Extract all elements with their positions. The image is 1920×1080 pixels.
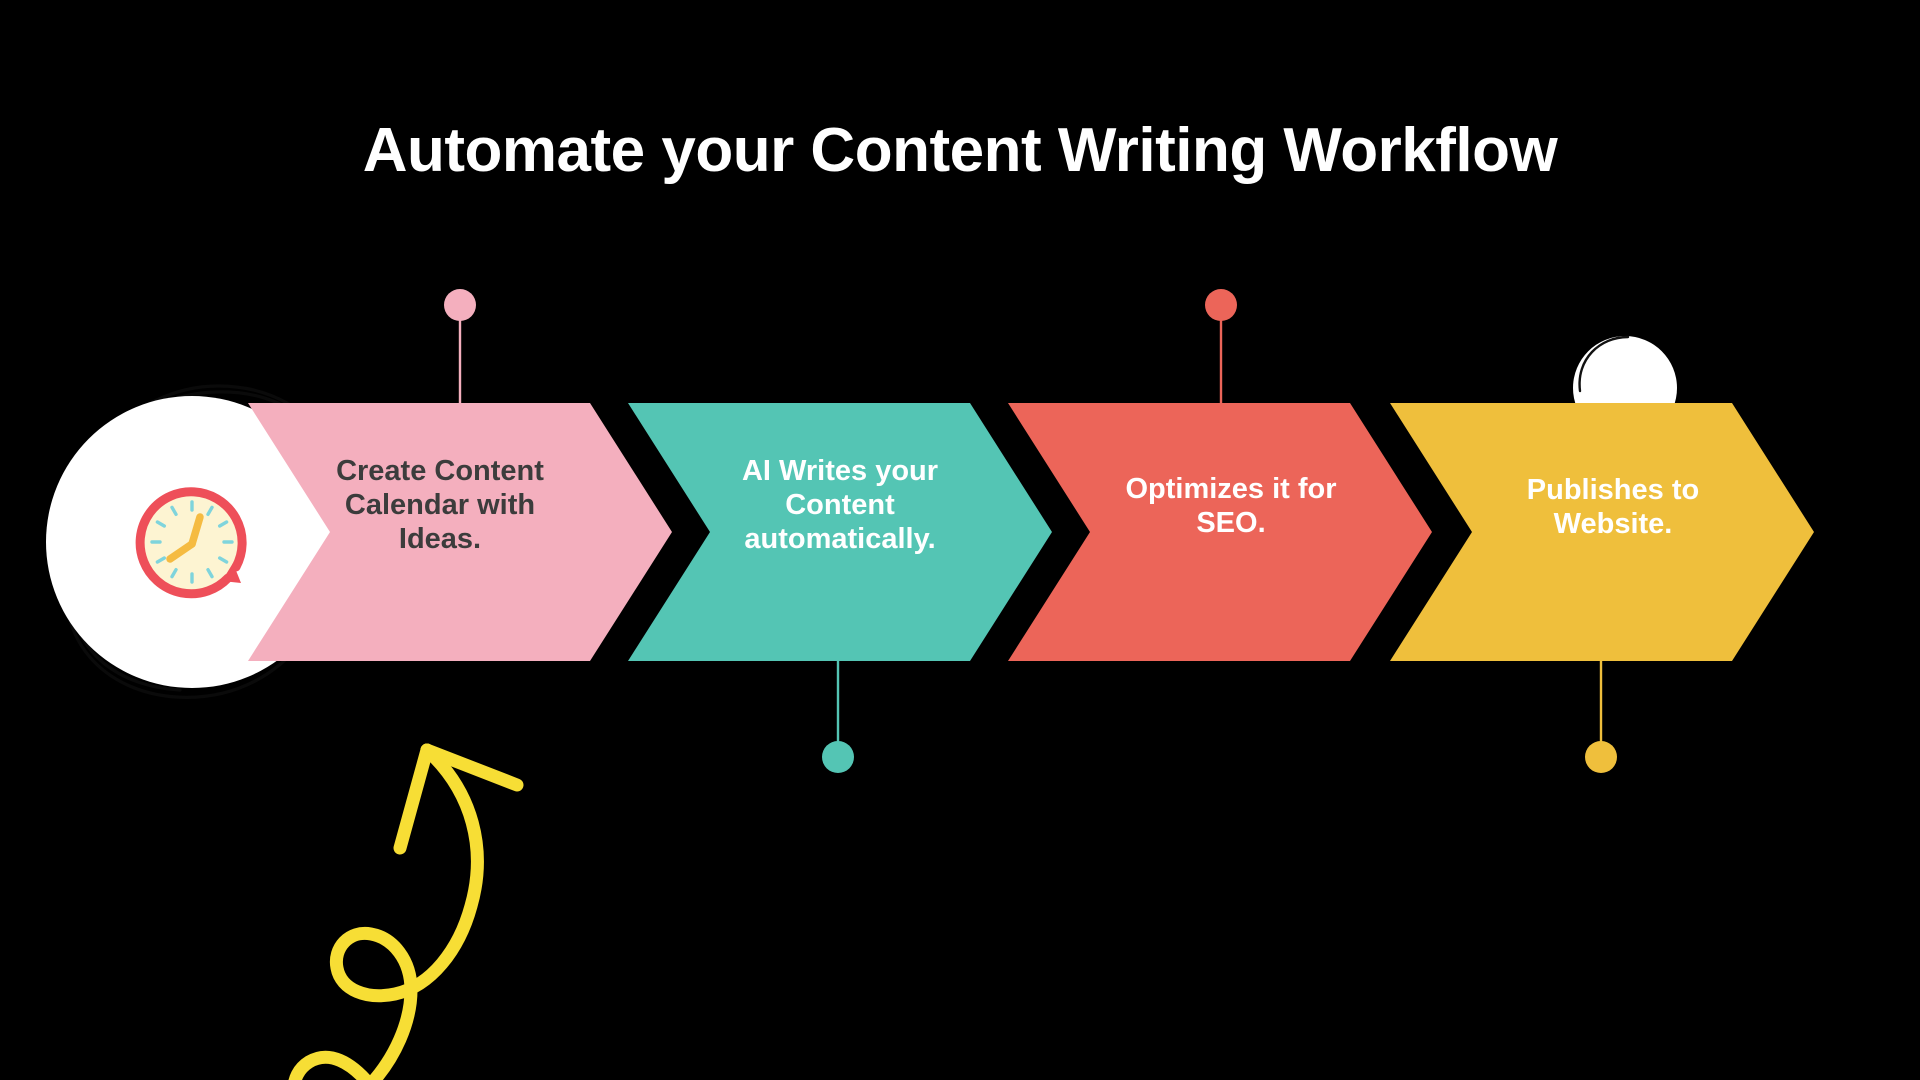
chevron-step-4-label: Publishes to Website. xyxy=(1488,474,1738,542)
infographic-canvas: Automate your Content Writing Workflow xyxy=(0,0,1920,1080)
pin-marker-red xyxy=(1205,289,1237,410)
pin-marker-pink xyxy=(444,289,476,410)
chevron-step-3-label: Optimizes it for SEO. xyxy=(1096,473,1366,541)
page-title: Automate your Content Writing Workflow xyxy=(0,118,1920,183)
badge-circle xyxy=(46,396,338,688)
clock-badge xyxy=(40,370,340,700)
white-circle-accent xyxy=(1570,333,1680,443)
pin-marker-yellow xyxy=(1585,655,1617,773)
pin-marker-teal xyxy=(822,655,854,773)
clock-icon xyxy=(140,491,243,594)
chevron-step-1-label: Create Content Calendar with Ideas. xyxy=(300,455,580,557)
curly-arrow-doodle xyxy=(255,710,555,1080)
chevron-step-2-label: AI Writes your Content automatically. xyxy=(708,455,972,557)
